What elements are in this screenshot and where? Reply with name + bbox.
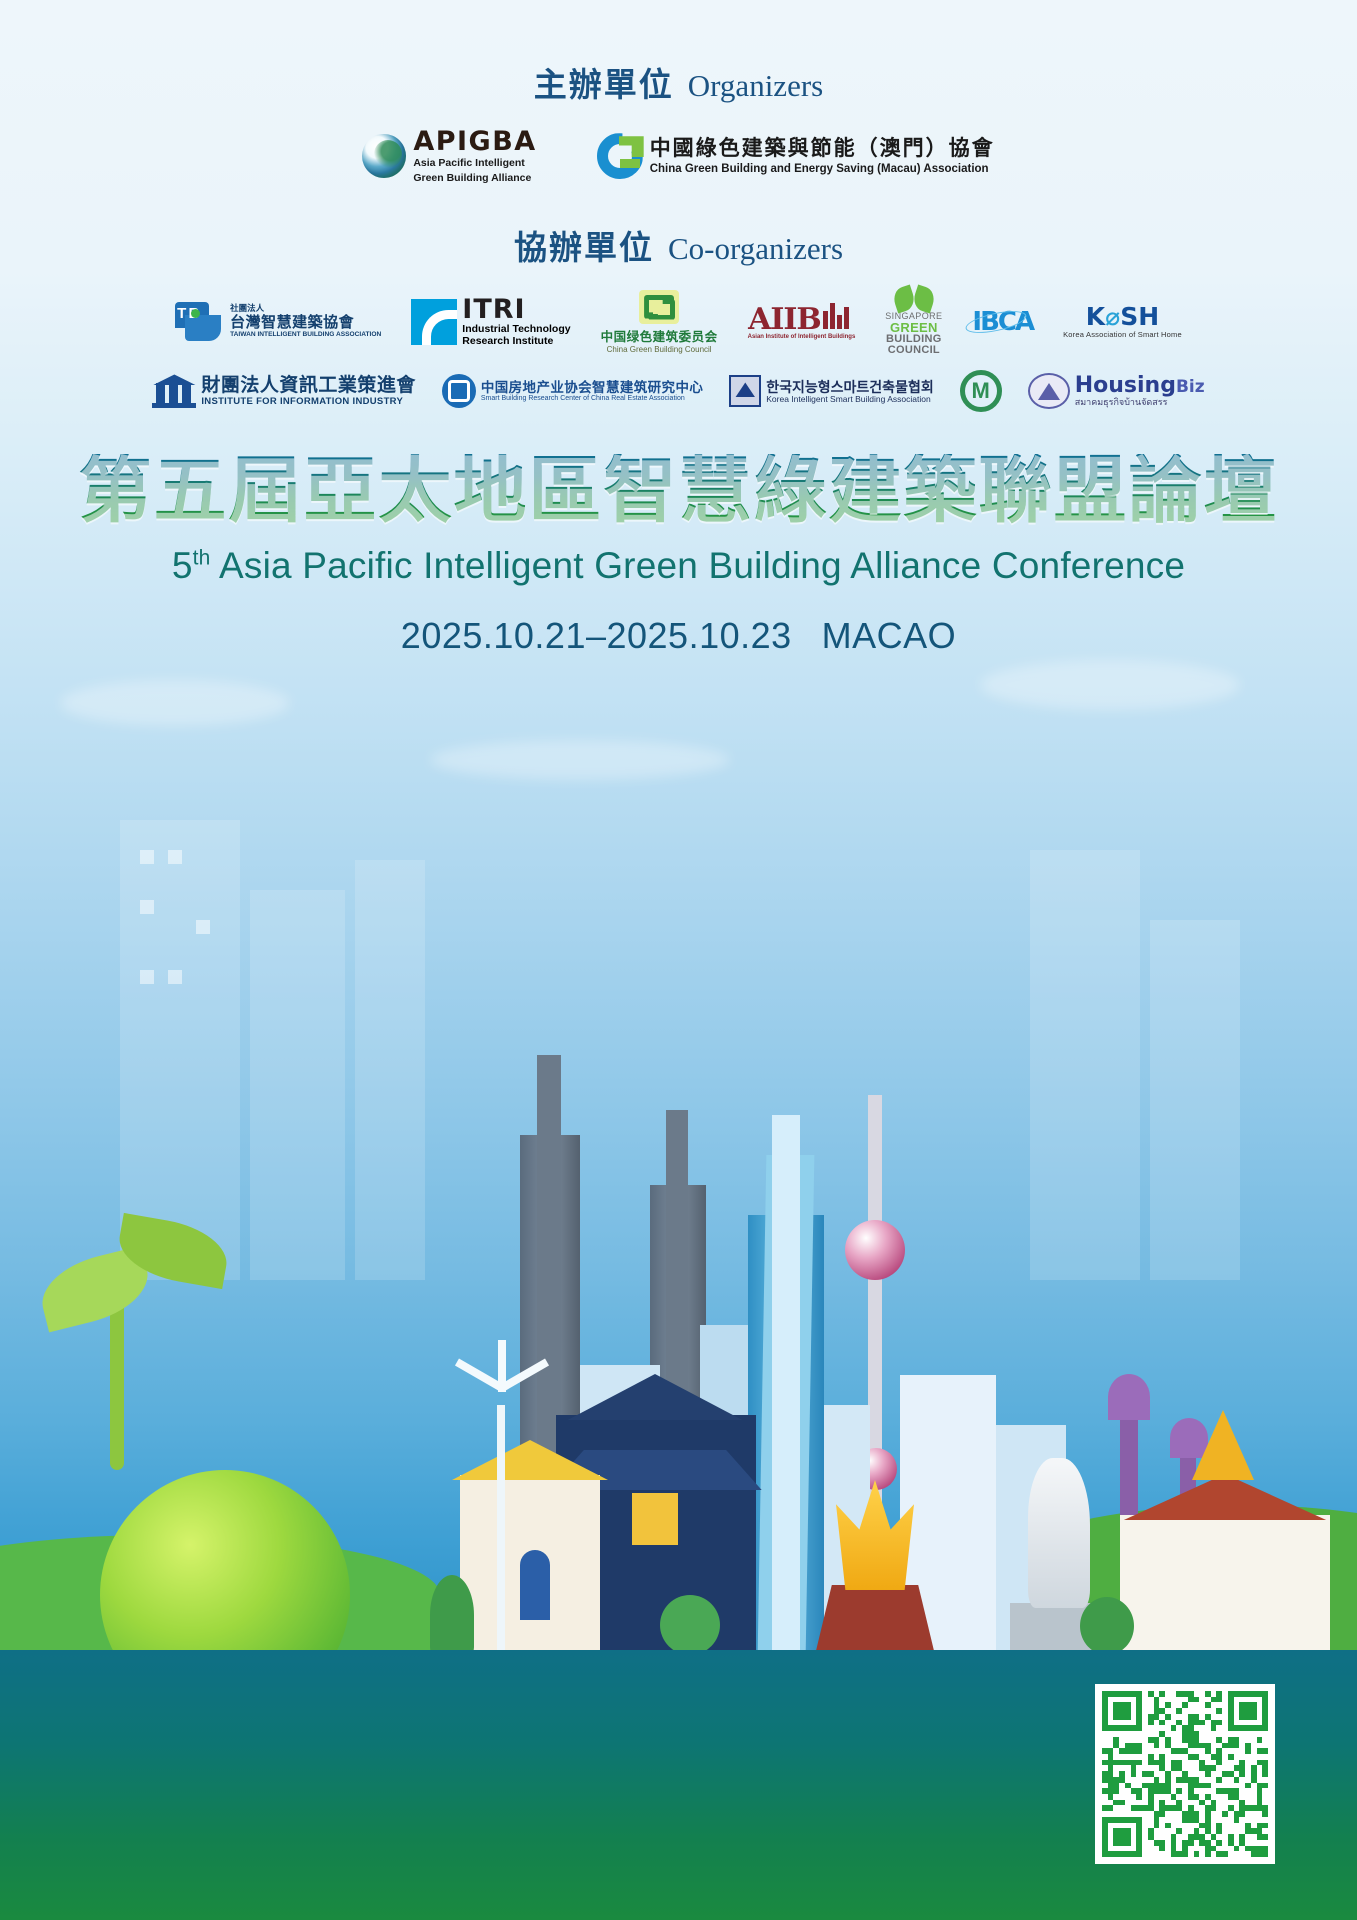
organizers-heading: 主辦單位Organizers xyxy=(0,58,1357,106)
organizers-logo-row: APIGBA Asia Pacific Intelligent Green Bu… xyxy=(0,128,1357,185)
tiba-name-cn: 台灣智慧建築協會 xyxy=(230,314,381,331)
qr-code[interactable] xyxy=(1095,1684,1275,1864)
housingbiz-name: HousingBiz xyxy=(1075,375,1205,397)
logo-sgbc: SINGAPORE GREEN BUILDING COUNCIL xyxy=(885,287,942,357)
sgbc-line-4: COUNCIL xyxy=(885,345,942,356)
leaf-icon xyxy=(885,287,942,312)
coorganizers-row-1: T B 社團法人 台灣智慧建築協會 TAIWAN INTELLIGENT BUI… xyxy=(0,287,1357,357)
thai-temple xyxy=(1120,1515,1330,1655)
cgbc-name-cn: 中国绿色建筑委员会 xyxy=(601,326,718,345)
iii-name-cn: 財團法人資訊工業策進會 xyxy=(201,375,416,397)
page-title-cn: 第五屆亞太地區智慧綠建築聯盟論壇 xyxy=(0,454,1357,527)
city-skyline-illustration xyxy=(0,620,1357,1920)
kisba-name-en: Korea Intelligent Smart Building Associa… xyxy=(766,395,933,405)
logo-housingbiz: HousingBiz สมาคมธุรกิจบ้านจัดสรร xyxy=(1028,373,1205,409)
apigba-name-line1: Asia Pacific Intelligent xyxy=(413,157,536,170)
logo-cgbesa: 中國綠色建築與節能（澳門）協會 China Green Building and… xyxy=(597,133,995,179)
cgbesa-name-en: China Green Building and Energy Saving (… xyxy=(650,163,995,176)
cgbc-name-en: China Green Building Council xyxy=(601,345,718,354)
ibca-abbr: IBCA xyxy=(972,309,1033,335)
aiib-name-en: Asian Institute of Intelligent Buildings xyxy=(748,334,856,340)
logo-kash: K⌀SH Korea Association of Smart Home xyxy=(1063,304,1182,339)
kash-abbr: K⌀SH xyxy=(1086,304,1159,329)
tiba-name-cn-small: 社團法人 xyxy=(230,304,381,314)
sbrc-name-en: Smart Building Research Center of China … xyxy=(481,395,703,403)
logo-kisba: 한국지능형스마트건축물협회 Korea Intelligent Smart Bu… xyxy=(729,375,933,407)
logo-sbrc: 中国房地产业协会智慧建筑研究中心 Smart Building Research… xyxy=(442,374,703,408)
organizers-label-cn: 主辦單位 xyxy=(534,68,674,104)
green-g-icon xyxy=(597,133,643,179)
aiib-building-icon xyxy=(821,303,855,333)
itri-square-icon xyxy=(411,299,457,345)
institute-building-icon xyxy=(152,374,196,408)
logo-mfe xyxy=(960,370,1002,412)
tiba-mark-icon: T B xyxy=(175,302,225,342)
cgbesa-name-cn: 中國綠色建築與節能（澳門）協會 xyxy=(650,137,995,161)
logo-iii: 財團法人資訊工業策進會 INSTITUTE FOR INFORMATION IN… xyxy=(152,374,416,408)
coorganizers-label-en: Co-organizers xyxy=(668,231,843,266)
apigba-name-line2: Green Building Alliance xyxy=(413,172,536,185)
housingbiz-name-th: สมาคมธุรกิจบ้านจัดสรร xyxy=(1075,397,1205,407)
itri-name-en-2: Research Institute xyxy=(462,335,570,347)
page-title-en: 5th Asia Pacific Intelligent Green Build… xyxy=(0,545,1357,587)
lotus-monument xyxy=(815,1585,935,1655)
kisba-name-cn: 한국지능형스마트건축물협회 xyxy=(766,379,933,395)
mfe-mark-icon xyxy=(960,370,1002,412)
cgbc-mark-icon xyxy=(639,290,679,324)
sbrc-name-cn: 中国房地产业协会智慧建筑研究中心 xyxy=(481,380,703,396)
globe-icon xyxy=(362,134,406,178)
sbrc-seal-icon xyxy=(442,374,476,408)
aiib-abbr: AIIB xyxy=(748,303,855,334)
thai-seal-icon xyxy=(1028,373,1070,409)
iii-name-en: INSTITUTE FOR INFORMATION INDUSTRY xyxy=(201,397,416,408)
logo-tiba: T B 社團法人 台灣智慧建築協會 TAIWAN INTELLIGENT BUI… xyxy=(175,302,381,342)
logo-itri: ITRI Industrial Technology Research Inst… xyxy=(411,296,570,347)
sgbc-line-2: GREEN xyxy=(885,321,942,334)
logo-apigba: APIGBA Asia Pacific Intelligent Green Bu… xyxy=(362,128,536,185)
kash-name-en: Korea Association of Smart Home xyxy=(1063,330,1182,339)
apigba-abbr: APIGBA xyxy=(413,128,536,155)
logo-ibca: IBCA xyxy=(972,309,1033,335)
coorganizers-label-cn: 協辦單位 xyxy=(514,231,654,267)
coorganizers-heading: 協辦單位Co-organizers xyxy=(0,221,1357,269)
tiba-name-en: TAIWAN INTELLIGENT BUILDING ASSOCIATION xyxy=(230,331,381,339)
logo-cgbc: 中国绿色建筑委员会 China Green Building Council xyxy=(601,290,718,354)
itri-name-en-1: Industrial Technology xyxy=(462,323,570,335)
logo-aiib: AIIB Asian Institute of Intelligent Buil… xyxy=(748,303,856,341)
kisba-mark-icon xyxy=(729,375,761,407)
poster-header: 主辦單位Organizers APIGBA Asia Pacific Intel… xyxy=(0,0,1357,657)
coorganizers-row-2: 財團法人資訊工業策進會 INSTITUTE FOR INFORMATION IN… xyxy=(0,370,1357,412)
organizers-label-en: Organizers xyxy=(688,68,823,103)
wind-turbine xyxy=(497,1405,505,1655)
itri-abbr: ITRI xyxy=(462,296,570,323)
